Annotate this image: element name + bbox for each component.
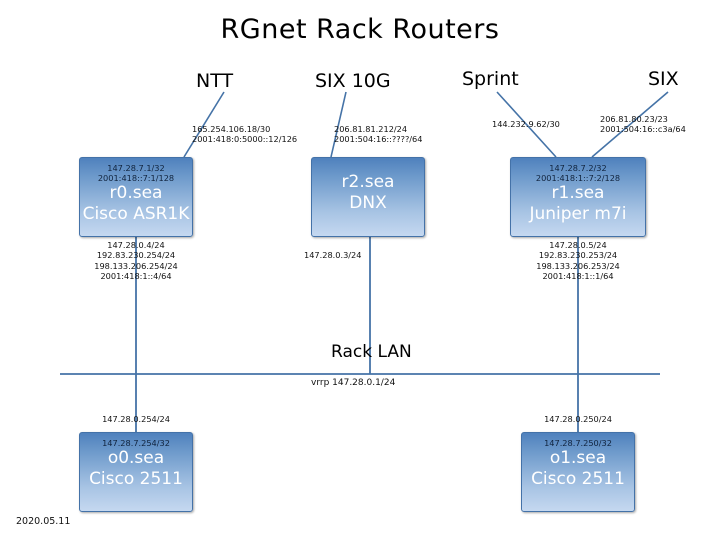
console-o0-loopback: 147.28.7.254/32 <box>102 438 170 448</box>
router-r0-lan-addresses: 147.28.0.4/24 192.83.230.254/24 198.133.… <box>36 240 236 282</box>
console-o1-lan-address: 147.28.0.250/24 <box>498 414 658 424</box>
uplink-addresses-ntt: 165.254.106.18/30 2001:418:0:5000::12/12… <box>192 124 297 145</box>
router-r0-name: r0.sea <box>110 183 163 204</box>
console-o1[interactable]: 147.28.7.250/32 o1.sea Cisco 2511 <box>521 432 635 512</box>
router-r0-model: Cisco ASR1K <box>83 204 190 225</box>
router-r2-model: DNX <box>349 193 386 214</box>
page-title: RGnet Rack Routers <box>0 14 720 45</box>
rack-lan-label: Rack LAN <box>331 342 412 362</box>
uplink-addresses-sprint: 144.232.9.62/30 <box>492 119 560 129</box>
router-r0-loopback: 147.28.7.1/32 2001:418::7:1/128 <box>98 163 174 183</box>
console-o0-model: Cisco 2511 <box>89 469 183 490</box>
console-o1-loopback: 147.28.7.250/32 <box>544 438 612 448</box>
router-r2-lan-addresses: 147.28.0.3/24 <box>304 250 361 260</box>
rack-lan-vrrp: vrrp 147.28.0.1/24 <box>311 378 395 388</box>
router-r1-loopback: 147.28.7.2/32 2001:418:1::7:2/128 <box>536 163 620 183</box>
date-stamp: 2020.05.11 <box>16 516 70 527</box>
router-r1-lan-addresses: 147.28.0.5/24 192.83.230.253/24 198.133.… <box>478 240 678 282</box>
console-o1-name: o1.sea <box>550 448 606 469</box>
provider-label-six: SIX <box>648 68 679 90</box>
provider-label-ntt: NTT <box>196 70 233 92</box>
provider-label-six10g: SIX 10G <box>315 70 391 92</box>
console-o0-lan-address: 147.28.0.254/24 <box>56 414 216 424</box>
router-r1-model: Juniper m7i <box>529 204 626 225</box>
provider-label-sprint: Sprint <box>462 68 519 90</box>
uplink-addresses-six10g: 206.81.81.212/24 2001:504:16::????/64 <box>334 124 422 145</box>
diagram-canvas: RGnet Rack Routers NTT SIX 10G Sprint SI… <box>0 0 720 540</box>
router-r1-name: r1.sea <box>552 183 605 204</box>
uplink-addresses-six: 206.81.80.23/23 2001:504:16::c3a/64 <box>600 114 686 135</box>
console-o0-name: o0.sea <box>108 448 164 469</box>
router-r0[interactable]: 147.28.7.1/32 2001:418::7:1/128 r0.sea C… <box>79 157 193 237</box>
router-r2-name: r2.sea <box>342 172 395 193</box>
console-o0[interactable]: 147.28.7.254/32 o0.sea Cisco 2511 <box>79 432 193 512</box>
router-r2[interactable]: r2.sea DNX <box>311 157 425 237</box>
console-o1-model: Cisco 2511 <box>531 469 625 490</box>
router-r1[interactable]: 147.28.7.2/32 2001:418:1::7:2/128 r1.sea… <box>510 157 646 237</box>
